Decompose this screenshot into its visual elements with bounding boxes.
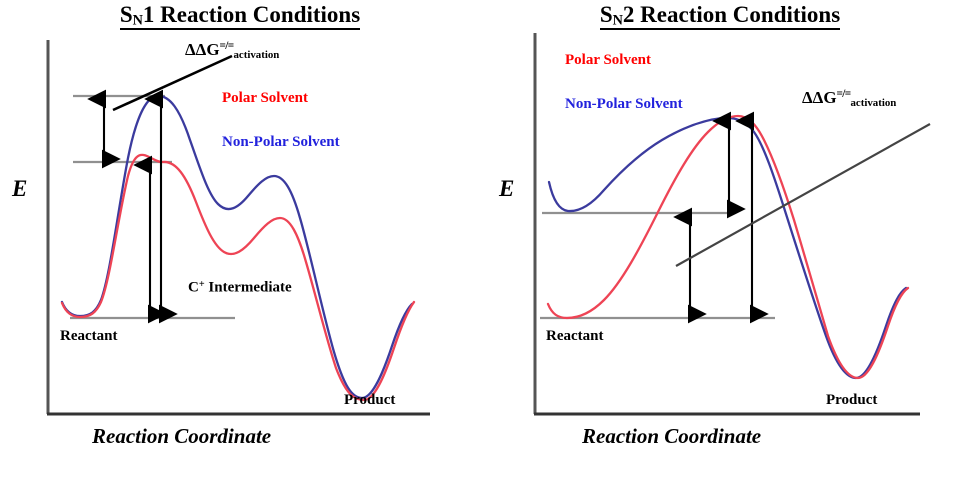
intermediate-pre: C bbox=[188, 280, 199, 296]
ddg-label-sn1: ΔΔG=/=activation bbox=[185, 40, 279, 61]
x-axis-label-sn1: Reaction Coordinate bbox=[92, 424, 271, 449]
legend-polar-sn2: Polar Solvent bbox=[565, 52, 651, 69]
y-axis-label-sn1: E bbox=[12, 176, 27, 202]
curve-polar-sn1 bbox=[62, 155, 414, 400]
intermediate-post: Intermediate bbox=[205, 280, 292, 296]
ddg-subscript: activation bbox=[233, 49, 279, 61]
intermediate-label-sn1: C+ Intermediate bbox=[188, 279, 292, 297]
ddg-leader-line-sn2 bbox=[676, 124, 930, 266]
ddg-subscript: activation bbox=[850, 97, 896, 109]
sn1-plot bbox=[0, 0, 480, 477]
sn2-plot bbox=[480, 0, 960, 477]
legend-polar-sn1: Polar Solvent bbox=[222, 90, 308, 107]
panel-sn2: SN2 Reaction Conditions ΔΔG= bbox=[480, 0, 960, 477]
legend-nonpolar-sn2: Non-Polar Solvent bbox=[565, 96, 683, 113]
ddg-base: ΔΔG bbox=[802, 88, 837, 107]
reactant-label-sn2: Reactant bbox=[546, 328, 603, 345]
ddg-leader-line-sn1 bbox=[113, 56, 232, 110]
product-label-sn2: Product bbox=[826, 392, 877, 409]
x-axis-label-sn2: Reaction Coordinate bbox=[582, 424, 761, 449]
ddg-label-sn2: ΔΔG=/=activation bbox=[802, 88, 896, 109]
ddg-superscript: =/= bbox=[220, 40, 234, 52]
y-axis-label-sn2: E bbox=[499, 176, 514, 202]
panel-sn1: SN1 Reaction Conditions bbox=[0, 0, 480, 477]
product-label-sn1: Product bbox=[344, 392, 395, 409]
reactant-label-sn1: Reactant bbox=[60, 328, 117, 345]
ddg-base: ΔΔG bbox=[185, 40, 220, 59]
ddg-superscript: =/= bbox=[837, 88, 851, 100]
legend-nonpolar-sn1: Non-Polar Solvent bbox=[222, 134, 340, 151]
